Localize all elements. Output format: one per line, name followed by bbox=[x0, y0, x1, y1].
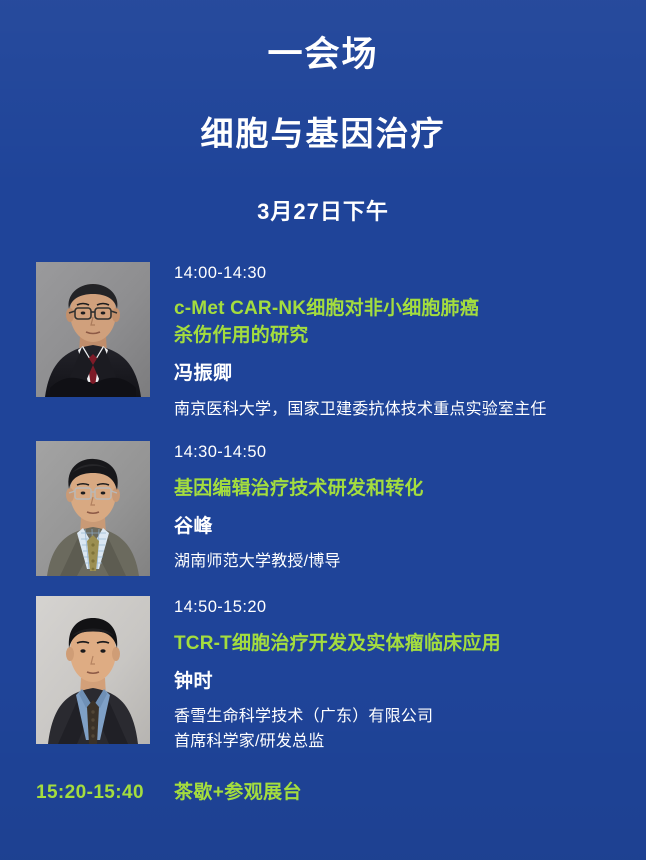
venue-title: 一会场 bbox=[0, 34, 646, 76]
session-details: 14:30-14:50 基因编辑治疗技术研发和转化 谷峰 湖南师范大学教授/博导 bbox=[174, 441, 626, 575]
break-time: 15:20-15:40 bbox=[36, 782, 174, 804]
break-label: 茶歇+参观展台 bbox=[174, 777, 302, 804]
session-title: c-Met CAR-NK细胞对非小细胞肺癌 杀伤作用的研究 bbox=[174, 296, 626, 350]
session-title: 基因编辑治疗技术研发和转化 bbox=[174, 476, 626, 503]
session-poster: 一会场 细胞与基因治疗 3月27日下午 bbox=[0, 0, 646, 860]
speaker-photo bbox=[36, 441, 150, 576]
speaker-affiliation: 湖南师范大学教授/博导 bbox=[174, 550, 626, 575]
topic-title: 细胞与基因治疗 bbox=[0, 114, 646, 154]
session-time: 14:50-15:20 bbox=[174, 598, 626, 618]
session-time: 14:30-14:50 bbox=[174, 443, 626, 463]
speaker-name: 冯振卿 bbox=[174, 362, 626, 387]
session-item: 14:00-14:30 c-Met CAR-NK细胞对非小细胞肺癌 杀伤作用的研… bbox=[0, 262, 646, 423]
break-row: 15:20-15:40 茶歇+参观展台 bbox=[0, 777, 646, 804]
speaker-name: 谷峰 bbox=[174, 515, 626, 540]
session-title: TCR-T细胞治疗开发及实体瘤临床应用 bbox=[174, 631, 626, 658]
session-details: 14:50-15:20 TCR-T细胞治疗开发及实体瘤临床应用 钟时 香雪生命科… bbox=[174, 596, 626, 755]
speaker-photo bbox=[36, 596, 150, 744]
session-item: 14:30-14:50 基因编辑治疗技术研发和转化 谷峰 湖南师范大学教授/博导 bbox=[0, 441, 646, 576]
poster-header: 一会场 细胞与基因治疗 3月27日下午 bbox=[0, 0, 646, 226]
speaker-photo bbox=[36, 262, 150, 397]
portrait-image-1 bbox=[36, 262, 150, 397]
session-time: 14:00-14:30 bbox=[174, 264, 626, 284]
session-list: 14:00-14:30 c-Met CAR-NK细胞对非小细胞肺癌 杀伤作用的研… bbox=[0, 262, 646, 755]
session-details: 14:00-14:30 c-Met CAR-NK细胞对非小细胞肺癌 杀伤作用的研… bbox=[174, 262, 626, 423]
portrait-image-3 bbox=[36, 596, 150, 744]
session-item: 14:50-15:20 TCR-T细胞治疗开发及实体瘤临床应用 钟时 香雪生命科… bbox=[0, 596, 646, 755]
speaker-affiliation: 香雪生命科学技术（广东）有限公司 首席科学家/研发总监 bbox=[174, 705, 626, 755]
speaker-affiliation: 南京医科大学，国家卫建委抗体技术重点实验室主任 bbox=[174, 398, 626, 423]
date-line: 3月27日下午 bbox=[0, 194, 646, 226]
portrait-image-2 bbox=[36, 441, 150, 576]
speaker-name: 钟时 bbox=[174, 670, 626, 695]
